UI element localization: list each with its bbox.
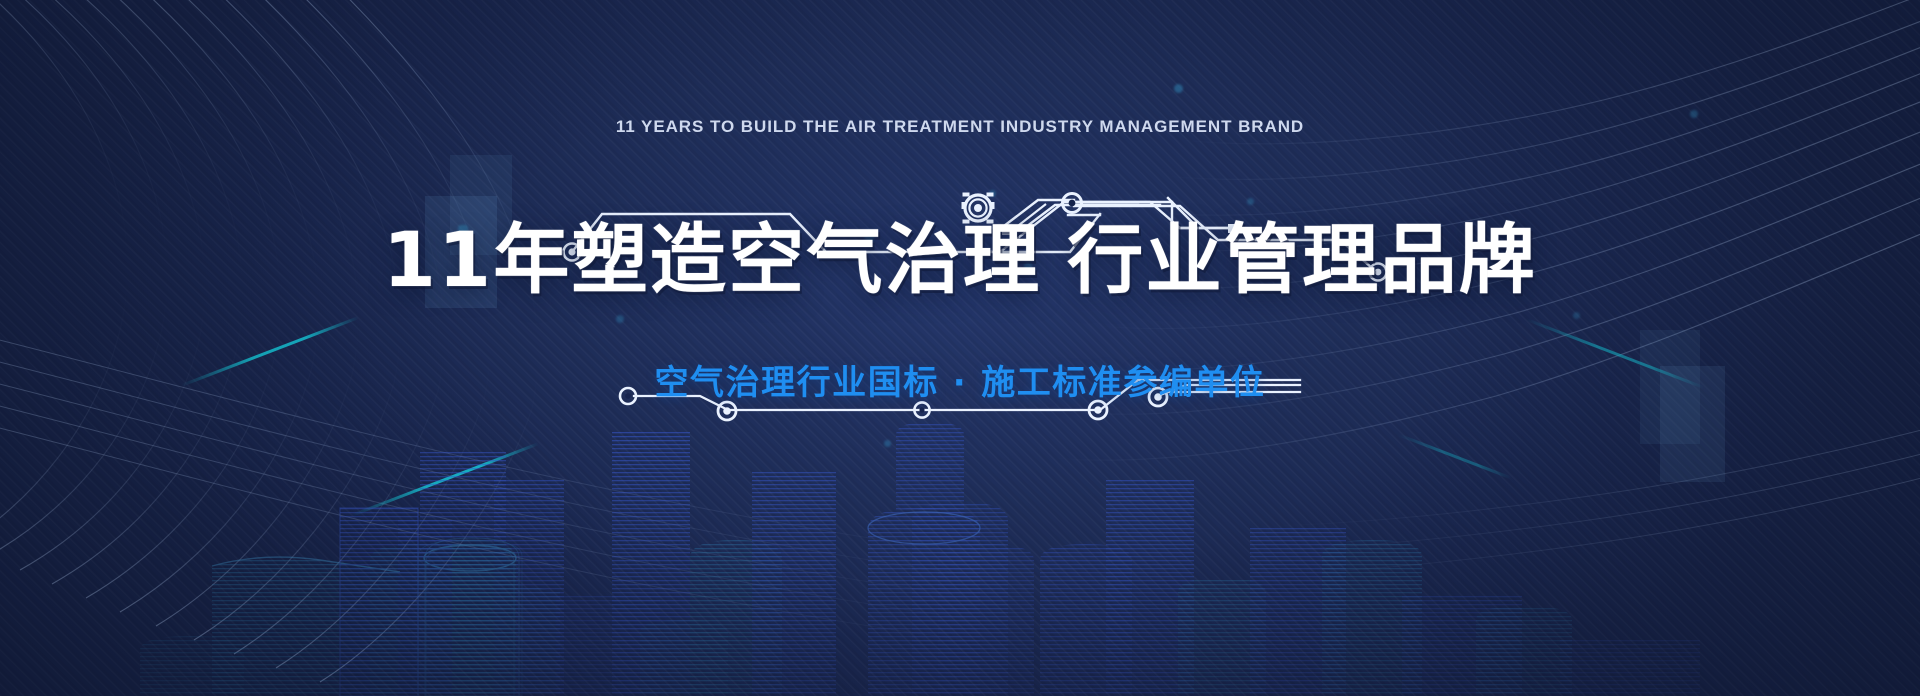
hero-banner: 11 YEARS TO BUILD THE AIR TREATMENT INDU… xyxy=(0,0,1920,696)
subline-separator: · xyxy=(939,363,981,403)
building-13 xyxy=(1040,544,1132,696)
banner-eyebrow-text: 11 YEARS TO BUILD THE AIR TREATMENT INDU… xyxy=(0,117,1920,137)
building-22 xyxy=(640,620,728,696)
building-23 xyxy=(1560,640,1700,696)
diagonal-stripe-texture xyxy=(0,0,1920,696)
banner-headline: 11年塑造空气治理行业管理品牌 xyxy=(0,222,1920,298)
wave-lines-background xyxy=(0,0,1920,696)
lower-circuit-path xyxy=(0,0,1920,696)
upper-circuit-path xyxy=(0,0,1920,696)
circuit-node-lower-3 xyxy=(914,402,929,417)
building-14 xyxy=(1106,478,1194,696)
building-slender xyxy=(398,520,452,696)
circuit-node-upper-3 xyxy=(1063,194,1082,213)
glow-dot-5 xyxy=(989,190,996,197)
banner-subline: 空气治理行业国标·施工标准参编单位 xyxy=(0,355,1920,404)
building-5 xyxy=(420,452,506,696)
building-1 xyxy=(212,557,400,696)
subline-right-text: 施工标准参编单位 xyxy=(981,363,1265,403)
building-3 xyxy=(412,546,504,696)
building-center-tower xyxy=(426,502,1034,696)
building-main-tower xyxy=(868,422,980,696)
building-18 xyxy=(1402,594,1522,696)
building-20 xyxy=(140,636,244,696)
headline-part-2: 行业管理品牌 xyxy=(1067,215,1537,304)
building-7 xyxy=(494,480,564,696)
building-round-tower xyxy=(424,540,516,696)
building-11 xyxy=(752,472,836,696)
building-17 xyxy=(1322,540,1422,696)
building-2 xyxy=(340,508,418,696)
building-10 xyxy=(690,540,782,696)
building-15 xyxy=(1178,578,1266,696)
glow-dot-1 xyxy=(1174,84,1183,93)
building-9 xyxy=(612,430,690,696)
glow-dot-10 xyxy=(616,315,624,323)
wave-left-group xyxy=(0,0,1000,682)
glow-dot-7 xyxy=(1247,198,1254,205)
building-12 xyxy=(370,540,522,696)
vignette-overlay xyxy=(0,0,1920,696)
circuit-node-lower-2 xyxy=(718,402,736,420)
building-16 xyxy=(1250,528,1346,696)
building-19 xyxy=(1476,606,1572,696)
accent-streak-4 xyxy=(1398,434,1511,480)
accent-streak-2 xyxy=(351,442,539,516)
city-skyline xyxy=(0,0,1920,696)
building-6 xyxy=(418,553,518,696)
building-4 xyxy=(420,581,560,696)
glow-dot-8 xyxy=(884,440,891,447)
building-8 xyxy=(425,538,519,696)
subline-left-text: 空气治理行业国标 xyxy=(655,363,939,403)
headline-part-1: 11年塑造空气治理 xyxy=(383,215,1041,304)
glow-dot-9 xyxy=(1573,312,1580,319)
building-21 xyxy=(556,596,660,696)
